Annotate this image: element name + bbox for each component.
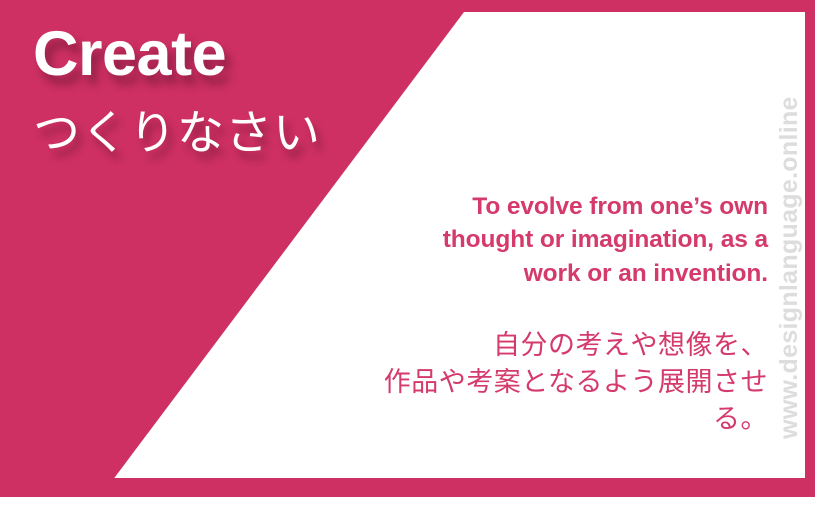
definition-english-line-2: thought or imagination, as a <box>350 223 768 256</box>
definition-english: To evolve from one’s own thought or imag… <box>350 190 768 290</box>
page-title: Create <box>33 22 453 88</box>
page-subtitle-japanese: つくりなさい <box>33 107 453 160</box>
definition-japanese-line-1: 自分の考えや想像を、 <box>350 327 768 364</box>
definition-english-line-3: work or an invention. <box>350 257 768 290</box>
bottom-accent-bar <box>10 478 805 497</box>
definition-japanese: 自分の考えや想像を、 作品や考案となるよう展開させる。 <box>350 327 768 439</box>
definition-japanese-line-2: 作品や考案となるよう展開させる。 <box>350 364 768 439</box>
website-watermark: www.designlanguage.online <box>775 62 804 474</box>
slide-canvas: Create つくりなさい To evolve from one’s own t… <box>0 0 825 511</box>
definition-english-line-1: To evolve from one’s own <box>350 190 768 223</box>
headline-block: Create つくりなさい <box>33 22 453 159</box>
definition-block: To evolve from one’s own thought or imag… <box>350 190 768 439</box>
